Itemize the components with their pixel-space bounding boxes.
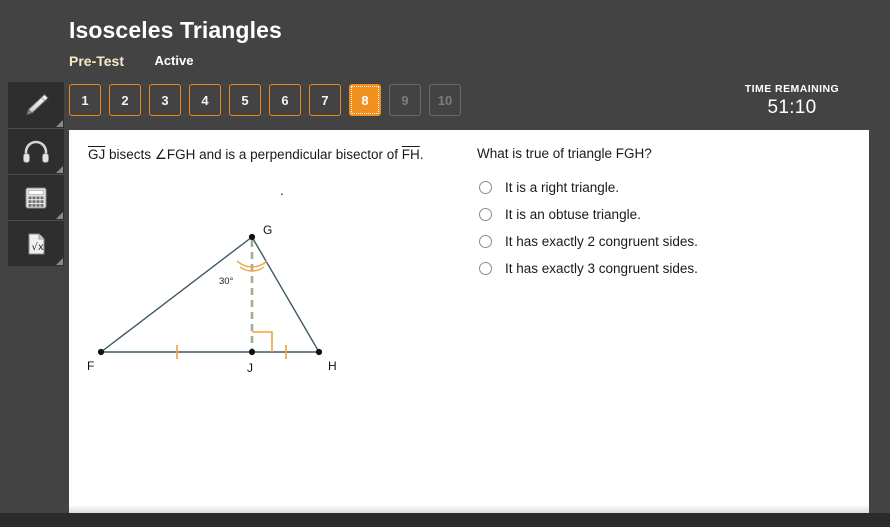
page-title: Isosceles Triangles	[69, 17, 282, 44]
time-remaining-value: 51:10	[712, 97, 872, 119]
prompt-end-text: .	[420, 147, 424, 162]
question-nav-item-7[interactable]: 7	[309, 84, 341, 116]
section-label: Pre-Test	[69, 53, 124, 69]
formula-sheet-icon: √x	[22, 231, 50, 257]
answer-option-4[interactable]: It has exactly 3 congruent sides.	[479, 261, 839, 276]
vertex-dot-h	[316, 349, 322, 355]
prompt-text: GJ bisects ∠FGH and is a perpendicular b…	[88, 146, 488, 164]
vertex-label-g: G	[263, 223, 272, 237]
headphones-icon	[21, 139, 51, 165]
question-nav-item-2[interactable]: 2	[109, 84, 141, 116]
right-angle-mark-icon	[252, 332, 272, 352]
question-nav-item-1[interactable]: 1	[69, 84, 101, 116]
radio-button-1[interactable]	[479, 181, 492, 194]
answer-option-3-label: It has exactly 2 congruent sides.	[505, 234, 698, 249]
segment-fh-label: FH	[402, 147, 420, 162]
audio-tool-button[interactable]	[8, 128, 64, 174]
radio-button-2[interactable]	[479, 208, 492, 221]
vertex-dot-f	[98, 349, 104, 355]
question-nav-item-4[interactable]: 4	[189, 84, 221, 116]
vertex-dot-g	[249, 234, 255, 240]
vertex-dot-j	[249, 349, 255, 355]
triangle-sides	[101, 237, 319, 352]
radio-button-3[interactable]	[479, 235, 492, 248]
triangle-figure: 30° G F J H	[79, 190, 369, 385]
question-nav-item-9: 9	[389, 84, 421, 116]
answer-option-1[interactable]: It is a right triangle.	[479, 180, 839, 195]
radio-button-4[interactable]	[479, 262, 492, 275]
answer-option-2-label: It is an obtuse triangle.	[505, 207, 641, 222]
status-badge: Active	[154, 53, 193, 68]
vertex-label-j: J	[247, 361, 253, 375]
prompt-middle-text: bisects ∠FGH and is a perpendicular bise…	[105, 147, 402, 162]
highlighter-tool-button[interactable]	[8, 82, 64, 128]
assessment-page: Isosceles Triangles Pre-Test Active 1 2 …	[0, 0, 890, 527]
question-panel: GJ bisects ∠FGH and is a perpendicular b…	[69, 130, 869, 513]
segment-gj-label: GJ	[88, 147, 105, 162]
svg-text:√x: √x	[32, 242, 44, 253]
subtitle-row: Pre-Test Active	[69, 53, 193, 71]
question-nav: 1 2 3 4 5 6 7 8 9 10	[69, 84, 461, 116]
formula-sheet-tool-button[interactable]: √x	[8, 220, 64, 266]
tool-rail: √x	[8, 82, 64, 266]
highlighter-icon	[21, 92, 51, 118]
calculator-tool-button[interactable]	[8, 174, 64, 220]
answer-option-2[interactable]: It is an obtuse triangle.	[479, 207, 839, 222]
time-remaining: TIME REMAINING 51:10	[712, 83, 872, 119]
question-nav-item-6[interactable]: 6	[269, 84, 301, 116]
answer-options: It is a right triangle. It is an obtuse …	[479, 180, 839, 288]
answer-option-4-label: It has exactly 3 congruent sides.	[505, 261, 698, 276]
answer-option-3[interactable]: It has exactly 2 congruent sides.	[479, 234, 839, 249]
question-nav-item-10: 10	[429, 84, 461, 116]
question-nav-item-8[interactable]: 8	[349, 84, 381, 116]
question-nav-item-3[interactable]: 3	[149, 84, 181, 116]
vertex-label-h: H	[328, 359, 337, 373]
answer-option-1-label: It is a right triangle.	[505, 180, 619, 195]
angle-measure-label: 30°	[219, 276, 234, 287]
triangle-figure-svg: 30° G F J H	[79, 190, 369, 380]
question-nav-item-5[interactable]: 5	[229, 84, 261, 116]
vertex-label-f: F	[87, 359, 94, 373]
question-stem: What is true of triangle FGH?	[477, 146, 652, 161]
calculator-icon	[22, 185, 50, 211]
bottom-bar	[0, 513, 890, 527]
time-remaining-label: TIME REMAINING	[712, 83, 872, 95]
